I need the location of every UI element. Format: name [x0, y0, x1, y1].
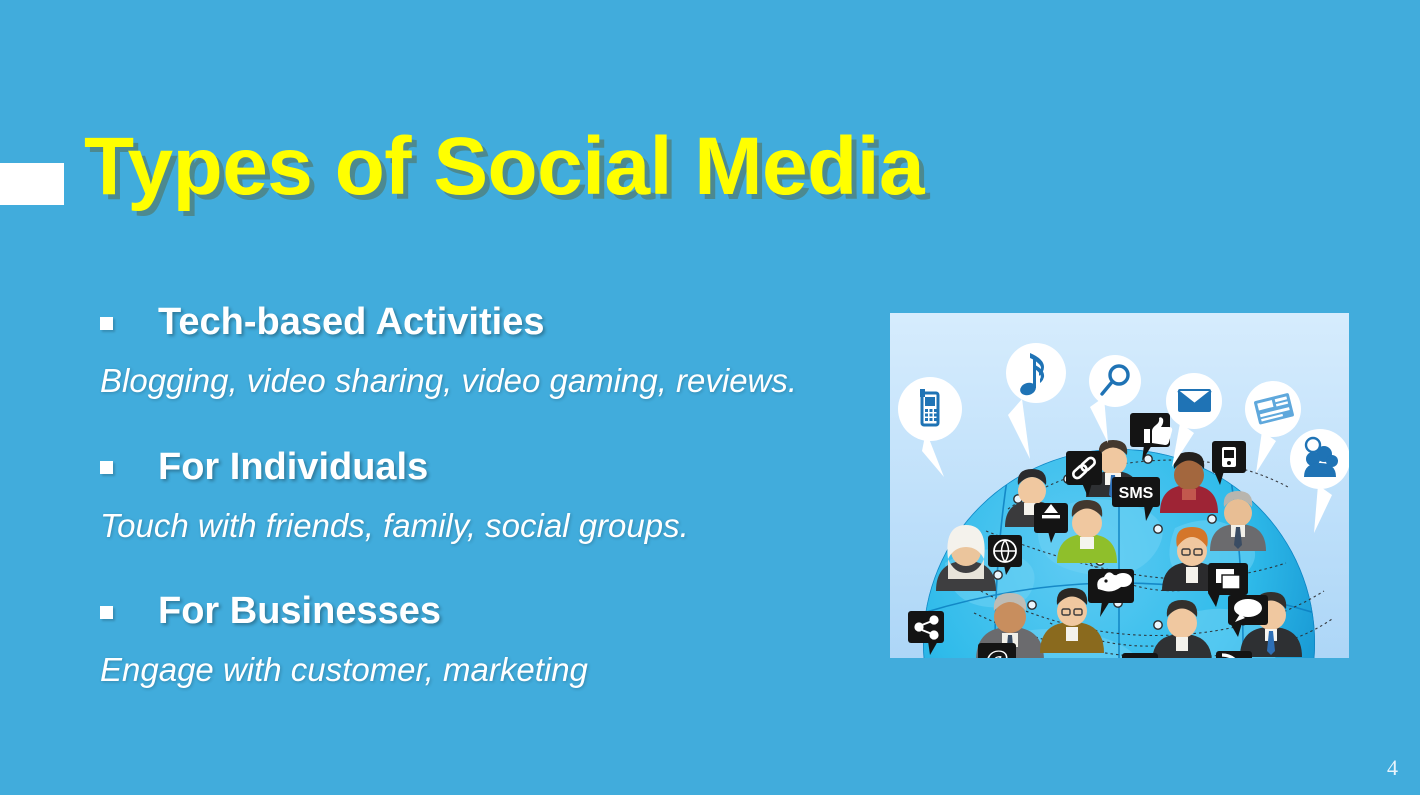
content-list: Tech-based Activities Blogging, video sh… [100, 296, 880, 690]
square-bullet-icon [100, 461, 113, 474]
telephone-icon-badge [1122, 653, 1158, 658]
bullet-group: For Individuals Touch with friends, fami… [100, 441, 880, 546]
at-sign-icon-badge: @ [978, 643, 1016, 658]
page-number: 4 [1387, 755, 1398, 781]
rss-icon-badge [1216, 651, 1252, 658]
square-bullet-icon [100, 317, 113, 330]
bullet-heading: For Businesses [158, 591, 441, 633]
square-bullet-icon [100, 606, 113, 619]
sms-badge-text: SMS [1119, 485, 1154, 502]
svg-text:@: @ [985, 645, 1009, 658]
bullet-heading: Tech-based Activities [158, 302, 544, 344]
bullet-subtext: Blogging, video sharing, video gaming, r… [100, 361, 880, 401]
bullet-subtext: Touch with friends, family, social group… [100, 506, 880, 546]
bullet-heading: For Individuals [158, 447, 428, 489]
bullet-subtext: Engage with customer, marketing [100, 650, 880, 690]
bullet-row: For Individuals [100, 441, 880, 495]
slide: Types of Social Media Tech-based Activit… [0, 0, 1420, 795]
bullet-row: Tech-based Activities [100, 296, 880, 350]
page-title: Types of Social Media [84, 126, 924, 208]
bullet-group: For Businesses Engage with customer, mar… [100, 585, 880, 690]
bullet-group: Tech-based Activities Blogging, video sh… [100, 296, 880, 401]
bullet-row: For Businesses [100, 585, 880, 639]
social-network-illustration: SMS [890, 313, 1349, 658]
title-accent-bar [0, 163, 64, 205]
